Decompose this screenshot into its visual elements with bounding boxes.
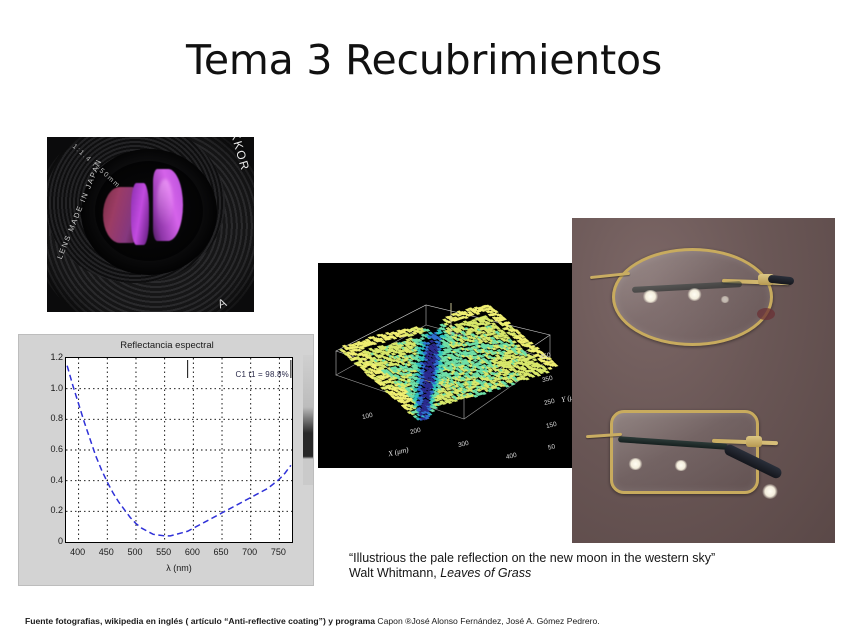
page-title: Tema 3 Recubrimientos (0, 36, 848, 84)
chart-annotation: C1 t1 = 98.8% (235, 370, 289, 379)
lens-reflection-violet (131, 183, 149, 245)
chart-plot-area: C1 t1 = 98.8% (65, 357, 293, 543)
chart-ytick-1-2: 1.2 (50, 352, 63, 362)
chart-xtick-400: 400 (70, 547, 85, 557)
bottom-highlight-1 (628, 458, 643, 470)
bottom-tip-highlight (762, 484, 778, 499)
quote-block: “Illustrious the pale reflection on the … (349, 551, 841, 581)
chart-title: Reflectancia espectral (19, 340, 315, 351)
surface-plot-panel: 100 200 300 400 450 350 250 150 50 X (μm… (318, 263, 578, 468)
bottom-highlight-2 (674, 460, 688, 471)
quote-author: Walt Whitmann, (349, 566, 440, 580)
top-highlight-1 (642, 290, 659, 303)
chart-ytick-0-8: 0.8 (50, 413, 63, 423)
eyeglasses-photo (572, 218, 835, 543)
top-nosepad (757, 308, 775, 320)
quote-text: “Illustrious the pale reflection on the … (349, 551, 841, 566)
chart-xtick-700: 700 (242, 547, 257, 557)
chart-x-axis-ticks: 400450500550600650700750 (65, 547, 293, 561)
chart-ytick-1-0: 1.0 (50, 383, 63, 393)
chart-x-axis-label: λ (nm) (65, 563, 293, 573)
chart-ytick-0: 0 (58, 536, 63, 546)
chart-curve-svg (66, 358, 292, 542)
chart-xtick-500: 500 (127, 547, 142, 557)
camera-lens-photo: MD ROKKOR LENS MADE IN JAPAN 1:1.4 f=50m… (47, 137, 254, 312)
chart-ytick-0-6: 0.6 (50, 444, 63, 454)
slide-canvas: Tema 3 Recubrimientos MD ROKKOR LENS MAD… (0, 0, 848, 636)
chart-xtick-650: 650 (214, 547, 229, 557)
footer-plain: Capon ®José Alonso Fernández, José A. Gó… (377, 616, 599, 626)
surface-plot-svg (318, 263, 578, 468)
quote-work: Leaves of Grass (440, 566, 531, 580)
surface-mesh (339, 303, 558, 421)
footer-bold-a: Fuente fotografias, wikipedia (25, 616, 146, 626)
reflectance-chart: Reflectancia espectral 1.21.00.80.60.40.… (18, 334, 314, 586)
footer-bold-b: en inglés ( artículo “Anti-reflective co… (146, 616, 378, 626)
chart-ytick-0-2: 0.2 (50, 505, 63, 515)
chart-xtick-750: 750 (271, 547, 286, 557)
chart-gridlines (66, 358, 292, 542)
chart-ytick-0-4: 0.4 (50, 475, 63, 485)
chart-edge-artifact (303, 355, 313, 485)
lens-barrel (47, 137, 254, 312)
source-footer: Fuente fotografias, wikipedia en inglés … (25, 616, 825, 626)
top-highlight-3 (720, 296, 730, 303)
chart-series-group (67, 366, 291, 536)
bottom-hinge (746, 436, 762, 447)
chart-xtick-600: 600 (185, 547, 200, 557)
lens-highlight (157, 179, 173, 227)
chart-xtick-450: 450 (99, 547, 114, 557)
top-highlight-2 (687, 288, 702, 301)
chart-xtick-550: 550 (156, 547, 171, 557)
quote-attribution: Walt Whitmann, Leaves of Grass (349, 566, 841, 581)
chart-y-axis-ticks: 1.21.00.80.60.40.20 (37, 357, 63, 543)
